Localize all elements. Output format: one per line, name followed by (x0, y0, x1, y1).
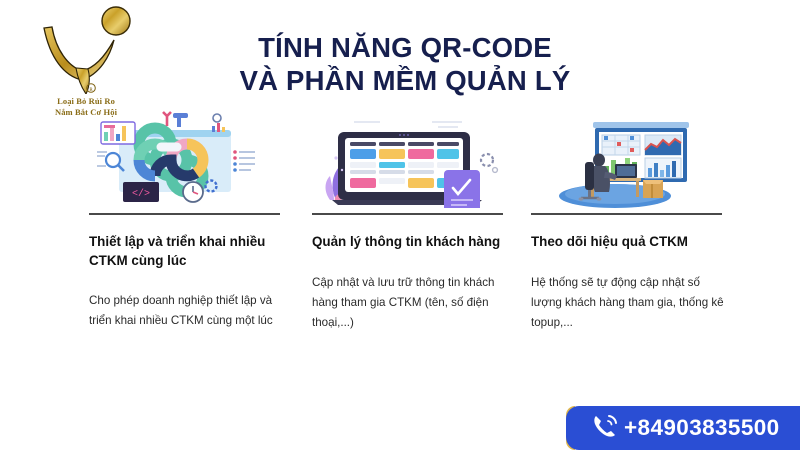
page-title-line-2: VÀ PHẦN MỀM QUẢN LÝ (165, 64, 645, 97)
divider-rule (89, 213, 280, 215)
feature-heading: Thiết lập và triển khai nhiều CTKM cùng … (89, 233, 285, 270)
gold-v-person-logo: R (30, 6, 138, 94)
feature-body: Cho phép doanh nghiệp thiết lập và triển… (89, 291, 285, 331)
divider-rule (531, 213, 722, 215)
feature-heading: Theo dõi hiệu quả CTKM (531, 233, 727, 252)
feature-column-2: Quản lý thông tin khách hàng Cập nhật và… (312, 108, 508, 333)
page-title: TÍNH NĂNG QR-CODE VÀ PHẦN MỀM QUẢN LÝ (165, 31, 645, 97)
contact-phone-button[interactable]: +84903835500 (566, 406, 800, 450)
page-title-line-1: TÍNH NĂNG QR-CODE (258, 32, 552, 63)
devops-infinity-loop-icon: </> (89, 108, 285, 208)
feature-body: Cập nhật và lưu trữ thông tin khách hàng… (312, 273, 508, 333)
feature-column-3: Theo dõi hiệu quả CTKM Hệ thống sẽ tự độ… (531, 108, 727, 333)
feature-body: Hệ thống sẽ tự động cập nhật số lượng kh… (531, 273, 727, 333)
feature-heading: Quản lý thông tin khách hàng (312, 233, 508, 252)
analyst-presentation-charts-icon (531, 108, 727, 208)
svg-text:</>: </> (132, 188, 150, 200)
contact-phone-number: +84903835500 (624, 415, 780, 441)
divider-rule (312, 213, 503, 215)
brand-logo: R Loại Bỏ Rủi Ro Nắm Bắt Cơ Hội (22, 6, 150, 124)
tablet-app-tiles-checklist-icon (312, 108, 508, 208)
feature-column-1: </> Thiết lập và triển khai nhiều CTKM c… (89, 108, 285, 331)
phone-call-icon (590, 412, 620, 445)
brand-tagline-line-1: Loại Bỏ Rủi Ro (57, 96, 115, 106)
